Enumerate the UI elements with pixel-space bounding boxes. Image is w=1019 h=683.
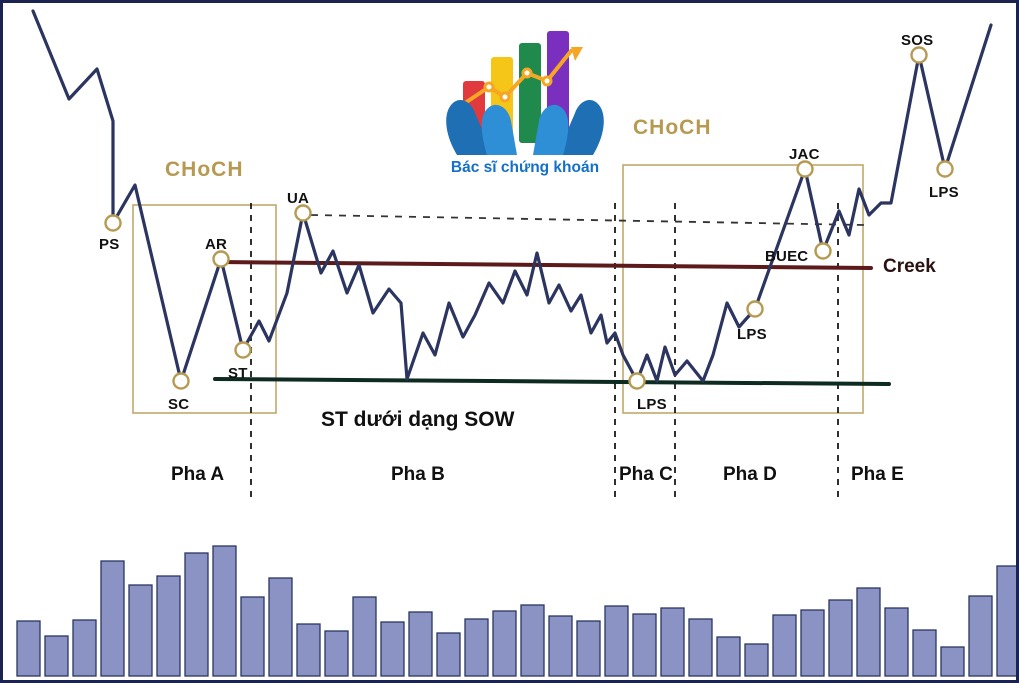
volume-bar (241, 597, 264, 676)
point-label-lps-7: LPS (737, 327, 767, 342)
volume-bar (101, 561, 124, 676)
price-marker-ua-4 (296, 206, 311, 221)
volume-bar (353, 597, 376, 676)
price-marker-ar-2 (214, 252, 229, 267)
logo-graphic (435, 17, 615, 157)
volume-bar (437, 633, 460, 676)
phase-label-pha-b: Pha B (391, 465, 445, 484)
price-marker-jac-8 (798, 162, 813, 177)
volume-bar-group (17, 546, 1019, 676)
volume-bar (493, 611, 516, 676)
ua-dashed-line (311, 215, 865, 225)
volume-bar (73, 620, 96, 676)
volume-bar (409, 612, 432, 676)
volume-bar (689, 619, 712, 676)
point-label-ar-2: AR (205, 237, 227, 252)
volume-bar (969, 596, 992, 676)
price-marker-sos-10 (912, 48, 927, 63)
ua-dashed-line-group (311, 215, 865, 225)
point-label-lps-6: LPS (637, 397, 667, 412)
volume-bar (661, 608, 684, 676)
point-label-st-3: ST (228, 366, 248, 381)
sow-annotation: ST dưới dạng SOW (321, 409, 514, 430)
volume-bar (829, 600, 852, 676)
price-marker-ps-0 (106, 216, 121, 231)
volume-bar (745, 644, 768, 676)
phase-label-pha-c: Pha C (619, 465, 673, 484)
point-label-lps-11: LPS (929, 185, 959, 200)
phase-label-pha-e: Pha E (851, 465, 904, 484)
volume-bar (717, 637, 740, 676)
logo-caption: Bác sĩ chứng khoán (435, 159, 615, 177)
volume-bar (913, 630, 936, 676)
volume-bar (213, 546, 236, 676)
volume-bar (157, 576, 180, 676)
price-marker-sc-1 (174, 374, 189, 389)
volume-bar (521, 605, 544, 676)
phase-label-pha-a: Pha A (171, 465, 224, 484)
volume-bar (857, 588, 880, 676)
price-marker-lps-11 (938, 162, 953, 177)
volume-bar (381, 622, 404, 676)
support-line (215, 379, 889, 384)
volume-bar (605, 606, 628, 676)
point-label-ua-4: UA (287, 191, 309, 206)
point-label-sos-10: SOS (901, 33, 933, 48)
price-marker-buec-9 (816, 244, 831, 259)
point-label-ps-0: PS (99, 237, 119, 252)
volume-bar (297, 624, 320, 676)
logo-bar-3 (519, 43, 541, 143)
wyckoff-schematic-figure: Bác sĩ chứng khoán CHoCHCHoCHCreekPSSCAR… (0, 0, 1019, 683)
logo-svg (435, 17, 615, 157)
choch-label-2: CHoCH (633, 117, 712, 138)
volume-bar (45, 636, 68, 676)
point-label-buec-9: BUEC (765, 249, 808, 264)
point-label-jac-8: JAC (789, 147, 820, 162)
choch-label-1: CHoCH (165, 159, 244, 180)
phase-divider-group (251, 203, 838, 503)
volume-bar (773, 615, 796, 676)
price-marker-lps-6 (630, 374, 645, 389)
creek-label: Creek (883, 257, 936, 276)
volume-bar (577, 621, 600, 676)
phase-label-pha-d: Pha D (723, 465, 777, 484)
volume-bar (633, 614, 656, 676)
volume-bar (997, 566, 1019, 676)
price-marker-lps-7 (748, 302, 763, 317)
volume-bar (17, 621, 40, 676)
volume-bar (465, 619, 488, 676)
volume-bar (185, 553, 208, 676)
volume-bar (269, 578, 292, 676)
bac-si-chung-khoan-logo: Bác sĩ chứng khoán (435, 17, 615, 195)
price-marker-st-3 (236, 343, 251, 358)
volume-bar (941, 647, 964, 676)
support-line-group (215, 379, 889, 384)
volume-bar (129, 585, 152, 676)
volume-bar (801, 610, 824, 676)
volume-bar (549, 616, 572, 676)
point-label-sc-1: SC (168, 397, 189, 412)
volume-bar (885, 608, 908, 676)
logo-arrow-head (571, 47, 583, 61)
volume-bar (325, 631, 348, 676)
